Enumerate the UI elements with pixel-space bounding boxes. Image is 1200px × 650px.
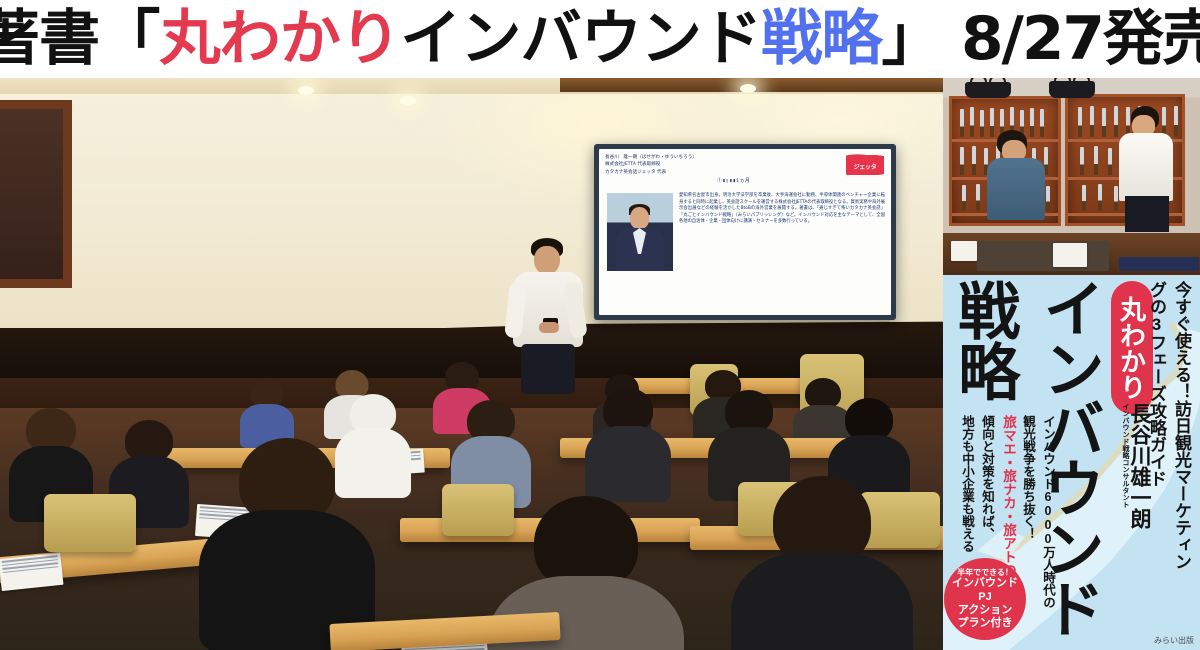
projector-screen: 長谷川 雄一朗（はせがわ・ゆういちろう） 株式会社JETTA 代表取締役 カタカ… [594,144,896,320]
publisher-logo: みらい出版 [1154,635,1194,646]
presenter-figure [505,238,591,388]
seminar-room-photo: 長谷川 雄一朗（はせがわ・ゆういちろう） 株式会社JETTA 代表取締役 カタカ… [0,78,943,650]
audience-person-foreground [760,476,884,650]
person-white-shirt [1129,106,1183,236]
person-torso [987,158,1045,220]
slide-progress-bar: ①▮▯▮▮1ヵ月 [717,177,750,184]
portrait-head [630,207,649,229]
person-torso [1119,133,1173,201]
promo-banner-image: 著書「丸わかりインバウンド戦略」 8/27発売 長谷川 雄一朗（はせがわ・ゆうい… [0,0,1200,650]
book-badge-action-plan: 半年でできる！ インバウンドPJ アクション プラン付き [944,558,1026,640]
book-author-role: インバウンド戦略コンサルタント [1120,403,1130,513]
audience-person [598,388,658,496]
book-title-senryaku: 戦略 [951,279,1014,401]
slide-portrait-photo [607,193,673,271]
audience-person [345,394,401,494]
ceiling-spotlight [400,96,416,105]
counter-mat [977,241,1109,271]
audience-person [246,380,288,446]
book-cover: 戦略 インバウンド 丸わかり 今すぐ使える！訪日観光マーケティングの3フェーズ攻… [943,275,1200,650]
book-subcopy-line: インバウンド6000万人時代の [1039,415,1058,615]
presenter-hand [539,322,559,333]
ceiling-spotlight [298,86,314,95]
person-blue-shirt [997,130,1055,226]
slide-body-text: 愛知県名古屋市出身。明治大学法学部を卒業後、大手海運会社に勤務、半導体関連のベン… [679,193,885,226]
jetta-logo: カタカナ英会話 ジェッタ [846,153,884,175]
chair [44,494,136,552]
headline-banner: 著書「丸わかりインバウンド戦略」 8/27発売 [0,0,1200,78]
badge-line-2: インバウンドPJ [948,577,1022,603]
headline-seg-2: インバウンド [400,4,761,74]
audience-person-foreground [226,438,348,650]
leather-bag [1049,81,1095,98]
counter-case [1119,257,1199,271]
slide-headline-2: 株式会社JETTA 代表取締役 [605,161,885,169]
headline-seg-1: 丸わかり [159,4,400,74]
headline-seg-3: 戦略 [761,4,881,74]
handout-paper [0,553,64,591]
leather-bag [965,82,1011,98]
slide: 長谷川 雄一朗（はせがわ・ゆういちろう） 株式会社JETTA 代表取締役 カタカ… [599,149,891,315]
door-frame [0,100,72,288]
badge-line-1: 半年でできる！ [957,568,1013,578]
slide-headline-3: カタカナ英会話ジェッタ 代表 [605,169,885,177]
knife-shop-photo [943,78,1200,275]
ceiling-spotlight [740,84,756,93]
person-trousers [1125,196,1169,232]
person-body [731,552,913,650]
badge-line-3: アクション [958,604,1012,617]
presenter-trousers [521,344,575,394]
badge-line-4: プラン付き [958,617,1013,630]
headline-seg-5: 8/27発売 [942,4,1200,74]
counter-paper [1053,243,1087,267]
chair [442,484,514,536]
jetta-logo-sub: カタカナ英会話 [846,154,884,159]
headline-text: 著書「丸わかりインバウンド戦略」 8/27発売 [0,0,1200,78]
presenter-face [534,246,560,275]
headline-seg-4: 」 [882,4,942,74]
counter-paper [951,241,977,261]
headline-seg-0: 著書「 [0,4,159,74]
jetta-logo-label: ジェッタ [846,162,884,171]
person-body [585,426,671,502]
